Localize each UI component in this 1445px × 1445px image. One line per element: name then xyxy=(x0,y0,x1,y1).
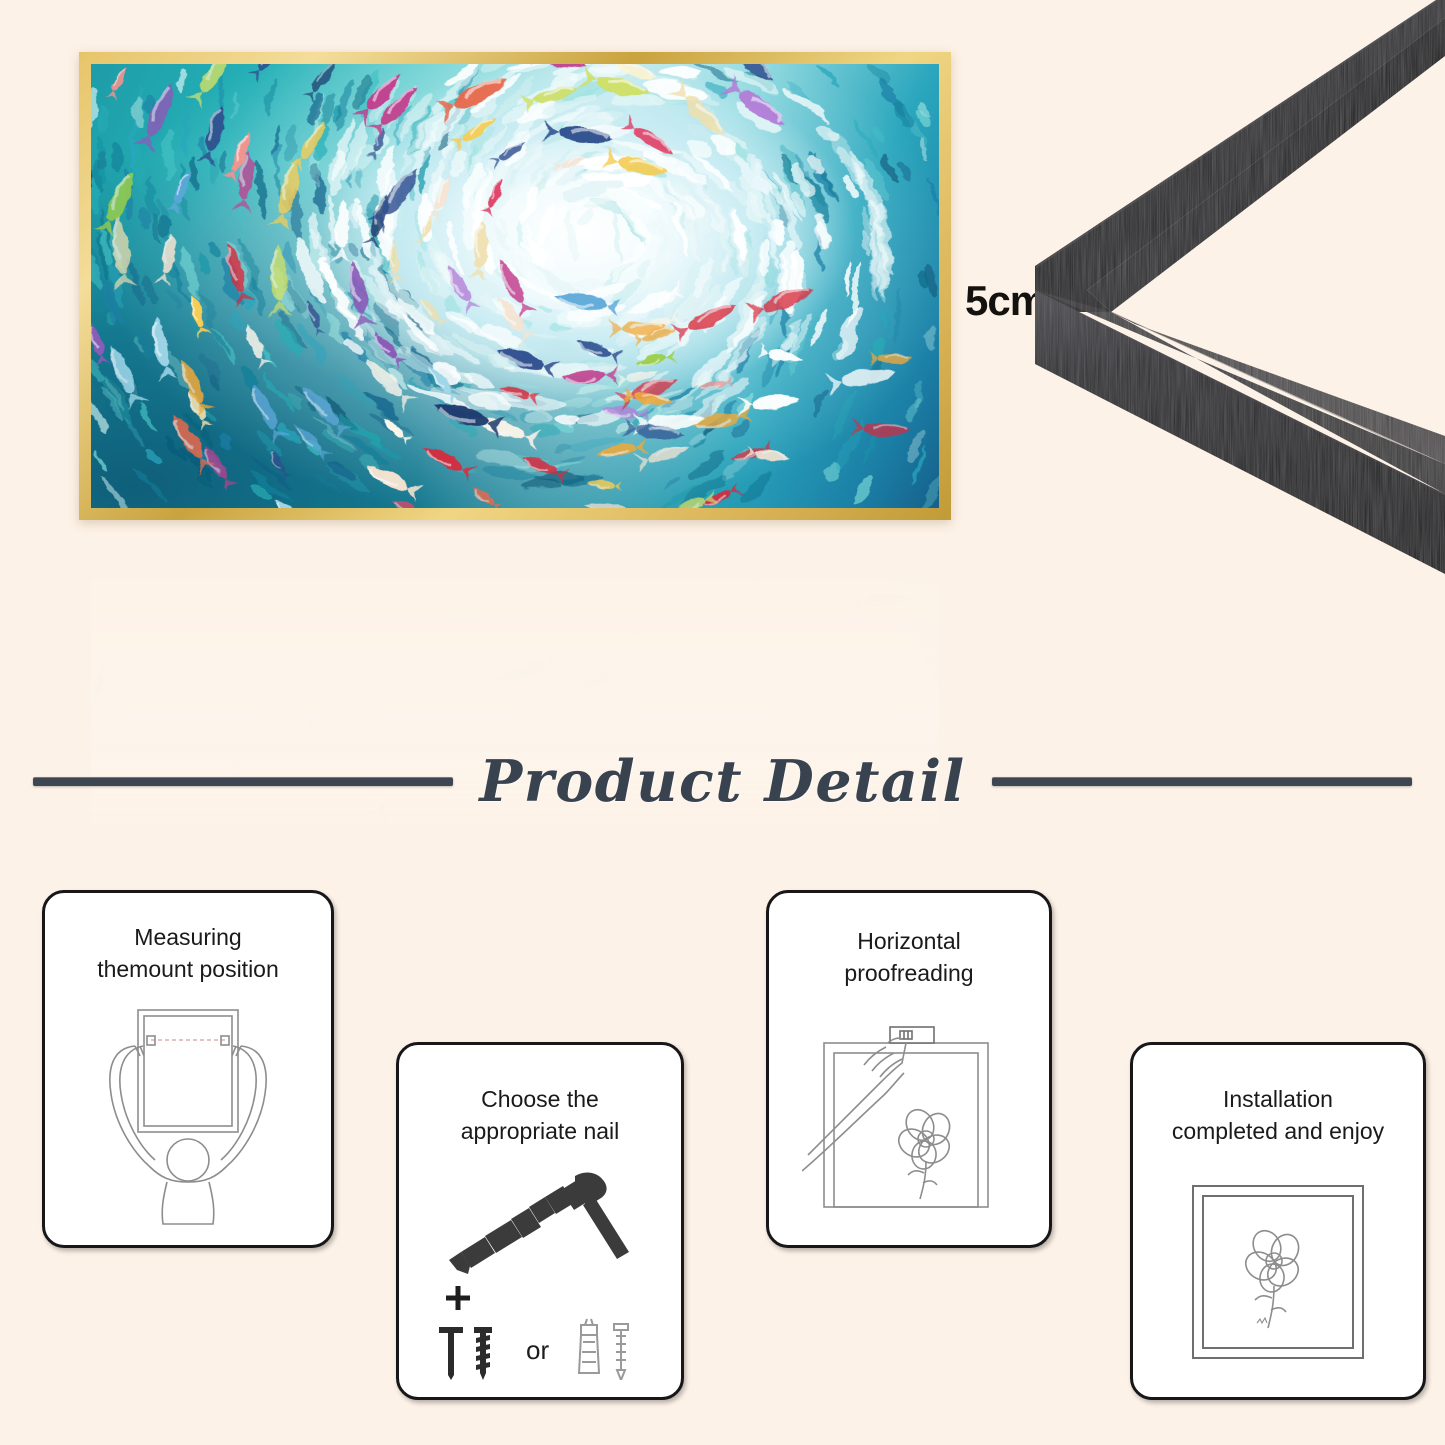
nail-icon xyxy=(439,1327,463,1380)
step-card-choose-nail[interactable]: Choose the appropriate nail xyxy=(396,1042,684,1400)
hammer-icon xyxy=(449,1173,629,1274)
heading-rule-left xyxy=(33,777,453,786)
fish-shoal-illustration xyxy=(91,64,939,508)
step-card-measuring[interactable]: Measuring themount position xyxy=(42,890,334,1248)
artwork-canvas xyxy=(91,64,939,508)
step-card-horizontal-proofreading-title: Horizontal proofreading xyxy=(834,925,983,989)
step-card-horizontal-proofreading[interactable]: Horizontal proofreading xyxy=(766,890,1052,1248)
step-card-choose-nail-title: Choose the appropriate nail xyxy=(451,1083,630,1147)
hand-with-spirit-level-icon xyxy=(802,1021,1016,1213)
hammer-and-nails-icon: or xyxy=(425,1164,655,1380)
page-title: Product Detail xyxy=(479,748,965,815)
step-card-measuring-title: Measuring themount position xyxy=(87,921,289,985)
framed-artwork xyxy=(79,52,951,520)
step-card-installation-complete[interactable]: Installation completed and enjoy xyxy=(1130,1042,1426,1400)
wall-anchor-icon xyxy=(579,1319,599,1373)
step-card-installation-complete-art xyxy=(1133,1147,1423,1397)
framed-flower-picture-icon xyxy=(1187,1180,1369,1364)
step-card-choose-nail-art: or xyxy=(399,1147,681,1397)
step-card-horizontal-proofreading-art xyxy=(769,989,1049,1245)
step-card-installation-complete-title: Installation completed and enjoy xyxy=(1162,1083,1394,1147)
section-heading: Product Detail xyxy=(0,736,1445,826)
plus-icon xyxy=(446,1286,470,1310)
heading-rule-right xyxy=(992,777,1412,786)
person-holding-frame-icon xyxy=(83,1002,293,1228)
screw-icon xyxy=(474,1327,492,1380)
step-card-measuring-art xyxy=(45,985,331,1245)
long-screw-icon xyxy=(614,1324,628,1380)
black-frame-corner-sample xyxy=(1015,0,1445,574)
nail-separator-label: or xyxy=(526,1335,549,1365)
